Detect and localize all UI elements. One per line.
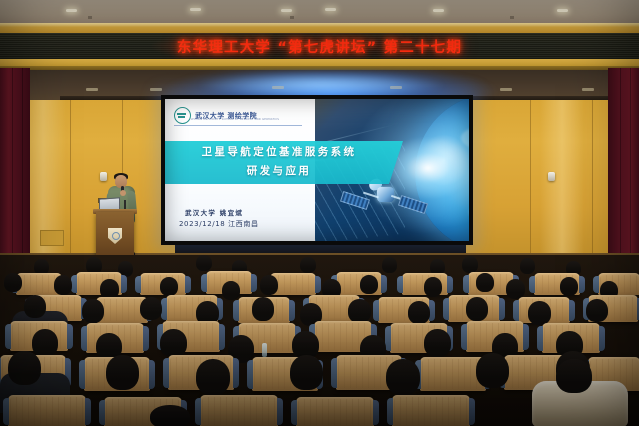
ceiling bbox=[0, 0, 639, 24]
soffit-downlight bbox=[390, 86, 402, 89]
audience-head bbox=[196, 255, 212, 271]
audience-head bbox=[360, 275, 378, 294]
ceiling-light bbox=[66, 9, 77, 12]
slide-title: 卫星导航定位基准服务系统 研发与应用 bbox=[171, 143, 387, 181]
audience-head bbox=[424, 277, 442, 297]
audience-head bbox=[382, 257, 397, 273]
water-bottle[interactable] bbox=[262, 343, 267, 357]
wall-speaker bbox=[100, 172, 107, 181]
wall-sheen bbox=[540, 100, 584, 265]
audience-head bbox=[160, 329, 187, 357]
projection-screen[interactable]: 武汉大学 测绘学院 WUHAN UNIVERSITY SCHOOL OF GEO… bbox=[165, 99, 469, 241]
audience-head bbox=[560, 277, 578, 296]
soffit-downlight bbox=[86, 88, 98, 91]
slide-logo: 武汉大学 测绘学院 bbox=[174, 107, 304, 124]
auditorium-photo: 东华理工大学 “第七虎讲坛” 第二十七期 bbox=[0, 0, 639, 426]
slide-title-line2: 研发与应用 bbox=[171, 162, 387, 181]
audience-head bbox=[252, 297, 274, 321]
ceiling-vent bbox=[510, 16, 514, 19]
seat[interactable] bbox=[296, 397, 374, 426]
audience-head bbox=[476, 273, 494, 292]
audience-head bbox=[4, 273, 22, 292]
audience-head bbox=[82, 299, 104, 323]
audience-head bbox=[196, 359, 230, 395]
seat[interactable] bbox=[392, 395, 470, 426]
audience-head bbox=[424, 329, 451, 357]
curtain-fold bbox=[22, 68, 23, 268]
audience-head bbox=[160, 277, 178, 296]
ceiling-light bbox=[433, 9, 444, 12]
wall-panel-box bbox=[40, 230, 64, 246]
ceiling-vent bbox=[290, 16, 294, 19]
seat[interactable] bbox=[200, 395, 278, 426]
soffit-downlight bbox=[500, 88, 512, 91]
audience-head bbox=[54, 275, 72, 295]
wall-seam bbox=[592, 100, 593, 265]
wall-speaker bbox=[548, 172, 555, 181]
audience-head bbox=[462, 256, 478, 273]
audience-head bbox=[348, 299, 371, 323]
slide-date-location: 2023/12/18 江西南昌 bbox=[179, 219, 259, 229]
ceiling-light bbox=[325, 8, 336, 11]
soffit-downlight bbox=[582, 88, 594, 91]
speaker-hand bbox=[120, 190, 126, 196]
seat[interactable] bbox=[8, 395, 86, 426]
curtain-fold bbox=[620, 68, 621, 268]
slide-title-line1: 卫星导航定位基准服务系统 bbox=[171, 143, 387, 162]
led-glow bbox=[150, 33, 260, 59]
audience-head bbox=[222, 281, 240, 300]
audience-head bbox=[466, 297, 488, 321]
soffit-downlight bbox=[150, 88, 162, 91]
curtain-left bbox=[0, 68, 30, 268]
wall-seam bbox=[530, 100, 531, 265]
ceiling-light bbox=[557, 9, 568, 12]
audience-head bbox=[8, 351, 41, 385]
audience-head bbox=[556, 359, 592, 393]
ceiling-vent bbox=[88, 16, 92, 19]
audience-head bbox=[586, 299, 608, 322]
logo-divider bbox=[174, 125, 302, 126]
audience-head bbox=[386, 359, 420, 395]
university-emblem-icon bbox=[174, 107, 191, 124]
audience-head bbox=[520, 258, 535, 274]
logo-institution-en: WUHAN UNIVERSITY SCHOOL OF GEODESY AND G… bbox=[191, 118, 279, 121]
audience-head bbox=[100, 279, 119, 299]
audience-head bbox=[32, 329, 58, 357]
audience-head bbox=[476, 353, 509, 388]
audience-head bbox=[290, 355, 323, 390]
curtain-fold bbox=[630, 68, 631, 268]
ceiling-light bbox=[190, 8, 201, 11]
curtain-fold bbox=[12, 68, 13, 268]
led-banner-text: 东华理工大学 “第七虎讲坛” 第二十七期 bbox=[0, 33, 639, 59]
audience-head bbox=[140, 297, 162, 320]
led-banner: 东华理工大学 “第七虎讲坛” 第二十七期 bbox=[0, 33, 639, 59]
audience-head bbox=[528, 301, 551, 325]
curtain-right bbox=[608, 68, 639, 268]
audience-head bbox=[260, 275, 278, 295]
audience-head bbox=[150, 405, 190, 426]
wall-seam bbox=[70, 100, 71, 265]
gold-trim-sheen bbox=[0, 23, 639, 27]
ceiling-light bbox=[281, 9, 292, 12]
audience-head bbox=[106, 355, 139, 390]
audience-head bbox=[24, 295, 46, 318]
soffit-downlight bbox=[272, 86, 284, 89]
slide-presenter: 武汉大学 姚宜斌 bbox=[185, 207, 243, 217]
audience-head bbox=[408, 301, 430, 324]
audience-head bbox=[506, 279, 525, 299]
audience-area bbox=[0, 255, 639, 426]
audience-head bbox=[300, 257, 316, 273]
